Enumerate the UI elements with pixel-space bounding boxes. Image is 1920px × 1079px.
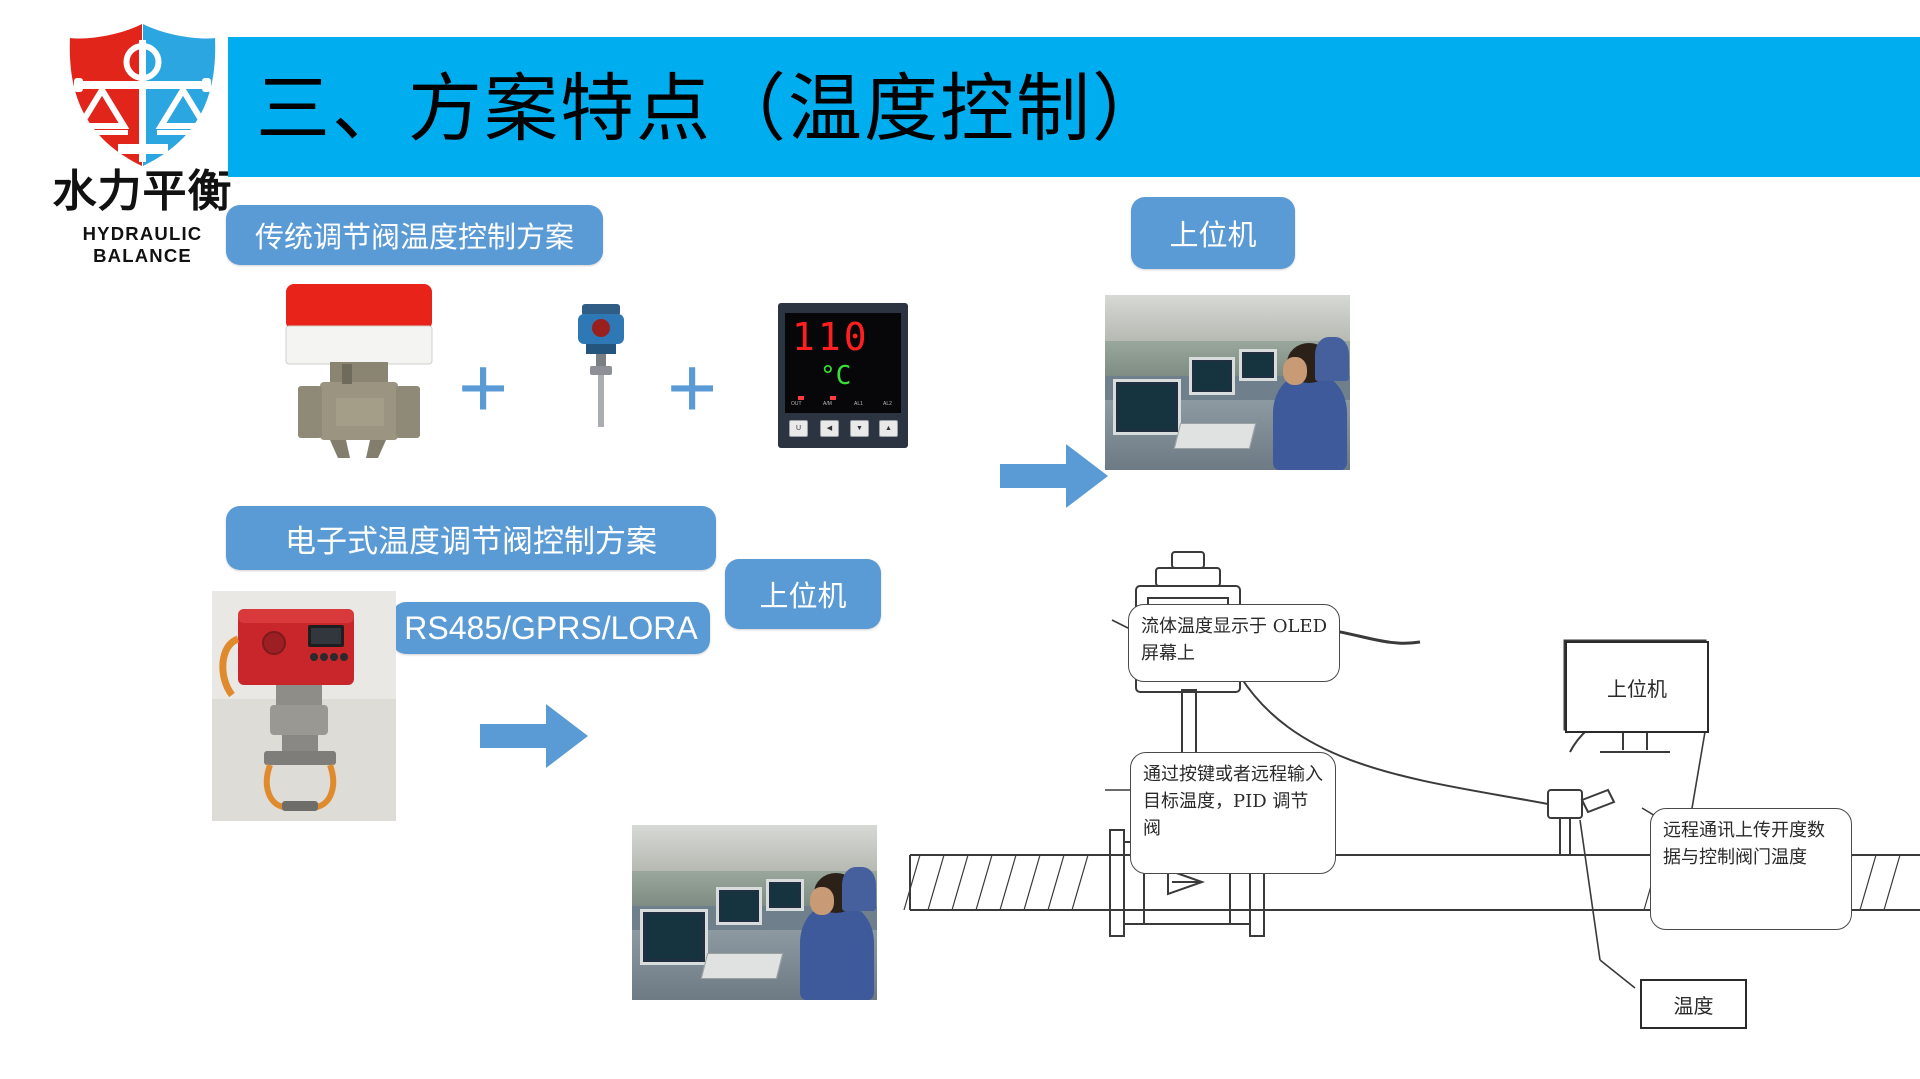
controller-button-left[interactable]: ◀ [820, 420, 839, 437]
logo-name-en: HYDRAULIC BALANCE [40, 223, 245, 267]
photo-ceiling [632, 825, 877, 871]
photo-control-room-2 [632, 825, 877, 1000]
arrow-right-2 [480, 700, 590, 777]
callout-oled-display: 流体温度显示于 OLED 屏幕上 [1128, 604, 1340, 682]
logo-name-cn: 水力平衡 [40, 170, 245, 214]
photo-monitor-1 [1113, 379, 1181, 435]
company-logo: 水力平衡 HYDRAULIC BALANCE [40, 18, 245, 253]
photo-ceiling [1105, 295, 1350, 341]
label-traditional-scheme: 传统调节阀温度控制方案 [226, 205, 603, 265]
controller-value-display: 110 [792, 317, 892, 357]
photo-keyboard [701, 953, 783, 979]
shield-logo-icon [40, 18, 245, 170]
photo-motorized-ball-valve [268, 282, 448, 472]
label-communication-protocols: RS485/GPRS/LORA [392, 602, 710, 654]
controller-label-al2: AL2 [883, 401, 892, 407]
label-host-computer-bottom: 上位机 [725, 559, 881, 629]
photo-operator [1273, 375, 1347, 470]
photo-temperature-controller: 110 °C OUT A/M AL1 AL2 U ◀ ▼ ▲ [778, 303, 908, 448]
photo-control-room-1 [1105, 295, 1350, 470]
controller-unit-display: °C [820, 361, 890, 391]
plus-sign-2: + [667, 345, 717, 431]
photo-electronic-control-valve [212, 591, 396, 821]
photo-operator-2 [842, 867, 876, 911]
photo-operator-face [1283, 357, 1307, 385]
technical-diagram [900, 490, 1920, 1050]
controller-led-out [798, 396, 804, 400]
label-electronic-scheme: 电子式温度调节阀控制方案 [226, 506, 716, 570]
controller-button-up[interactable]: ▲ [879, 420, 898, 437]
controller-button-down[interactable]: ▼ [850, 420, 869, 437]
diagram-box-temperature: 温度 [1640, 979, 1747, 1029]
controller-label-out: OUT [791, 401, 802, 407]
page-title: 三、方案特点（温度控制） [256, 52, 1656, 167]
photo-keyboard [1174, 423, 1256, 449]
photo-monitor-3 [766, 879, 804, 911]
controller-led-am [830, 396, 836, 400]
photo-monitor-2 [716, 887, 762, 925]
photo-operator [800, 905, 874, 1000]
plus-sign-1: + [458, 345, 508, 431]
controller-label-al1: AL1 [854, 401, 863, 407]
photo-monitor-2 [1189, 357, 1235, 395]
label-host-computer-top: 上位机 [1131, 197, 1295, 269]
photo-operator-face [810, 887, 834, 915]
controller-label-am: A/M [823, 401, 832, 407]
photo-monitor-1 [640, 909, 708, 965]
callout-pid-control: 通过按键或者远程输入目标温度，PID 调节阀 [1130, 752, 1336, 874]
diagram-box-host-computer: 上位机 [1565, 641, 1709, 733]
callout-remote-communication: 远程通讯上传开度数据与控制阀门温度 [1650, 808, 1852, 930]
photo-temperature-transmitter [556, 300, 646, 430]
photo-operator-2 [1315, 337, 1349, 381]
controller-button-u[interactable]: U [789, 420, 808, 437]
photo-monitor-3 [1239, 349, 1277, 381]
